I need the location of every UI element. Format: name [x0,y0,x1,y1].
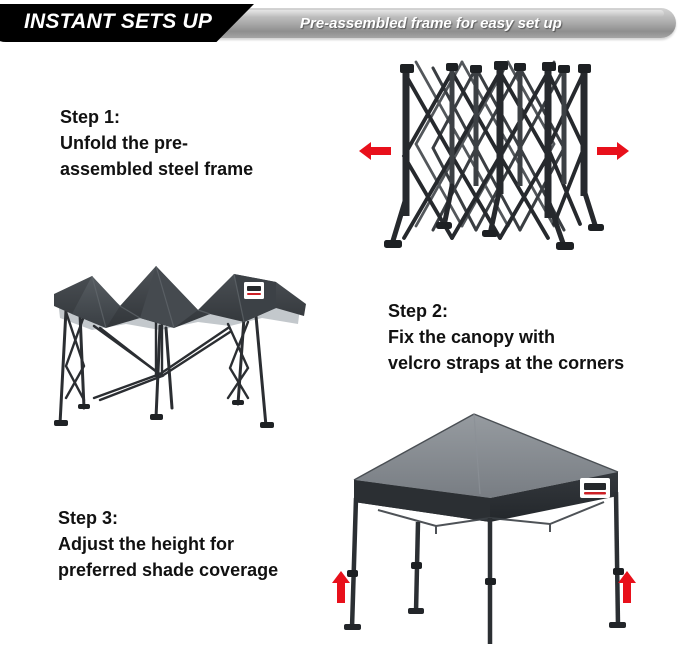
banner-title: INSTANT SETS UP [24,10,212,34]
erected-canopy-illustration [318,398,668,644]
header-banner: INSTANT SETS UP Pre-assembled frame for … [0,4,679,42]
step-3-caption: Step 3: Adjust the height for preferred … [58,505,278,583]
arrow-up-left-icon [330,570,352,604]
arrow-up-right-icon [616,570,638,604]
canopy-draped-illustration [48,248,316,440]
folded-steel-frame-illustration [358,48,618,258]
step-1-caption: Step 1: Unfold the pre- assembled steel … [60,104,253,182]
step-2-caption: Step 2: Fix the canopy with velcro strap… [388,298,624,376]
arrow-right-icon [596,140,630,162]
instruction-sheet: INSTANT SETS UP Pre-assembled frame for … [0,0,679,646]
brand-badge [580,478,610,498]
arrow-left-icon [358,140,392,162]
banner-subtitle: Pre-assembled frame for easy set up [300,15,562,32]
brand-badge [244,282,264,299]
